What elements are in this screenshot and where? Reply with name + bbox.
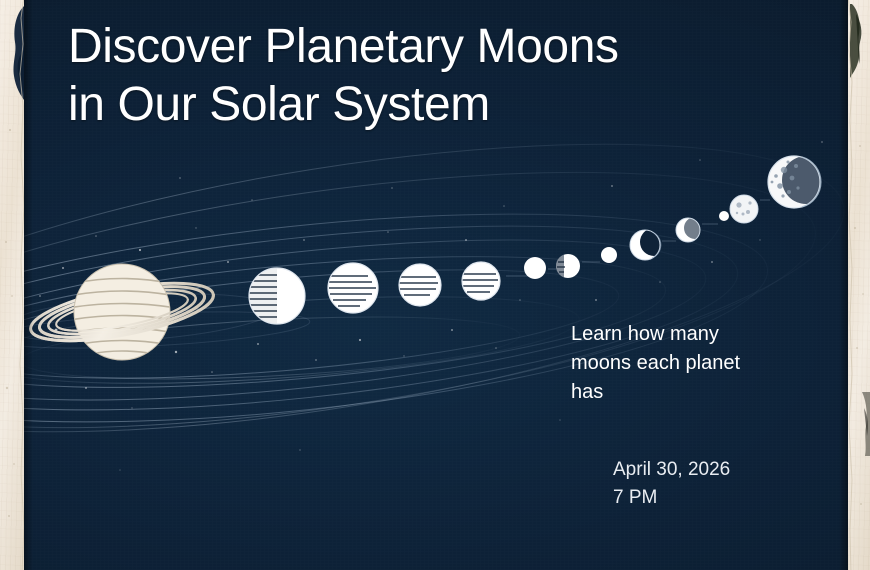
torn-paper-edge-right — [848, 0, 870, 570]
page-title: Discover Planetary Moons in Our Solar Sy… — [68, 18, 798, 134]
planet-uranus — [328, 263, 378, 313]
paper-tear-left-shape — [0, 0, 24, 570]
poster-canvas: Discover Planetary Moons in Our Solar Sy… — [0, 0, 870, 570]
moon-icon-small — [676, 217, 706, 242]
subtitle-text: Learn how many moons each planet has — [571, 320, 786, 407]
moon-icon-cratered-large — [768, 156, 830, 208]
event-datetime: April 30, 2026 7 PM — [613, 456, 833, 512]
planet-neptune — [399, 264, 441, 306]
planet-earth — [462, 262, 500, 300]
planet-mercury — [601, 247, 617, 263]
moon-icon-tiny — [719, 211, 729, 221]
moon-icon-crescent — [630, 228, 668, 260]
paper-edge-shadow-right — [839, 0, 848, 570]
paper-tear-right-shape — [848, 0, 870, 570]
paper-edge-shadow-left — [24, 0, 33, 570]
moon-icon-cratered-small — [730, 195, 758, 223]
planet-jupiter — [249, 268, 305, 324]
torn-paper-edge-left — [0, 0, 24, 570]
planet-mars — [556, 254, 580, 278]
planet-venus — [524, 257, 546, 279]
saturn-icon — [26, 264, 217, 360]
